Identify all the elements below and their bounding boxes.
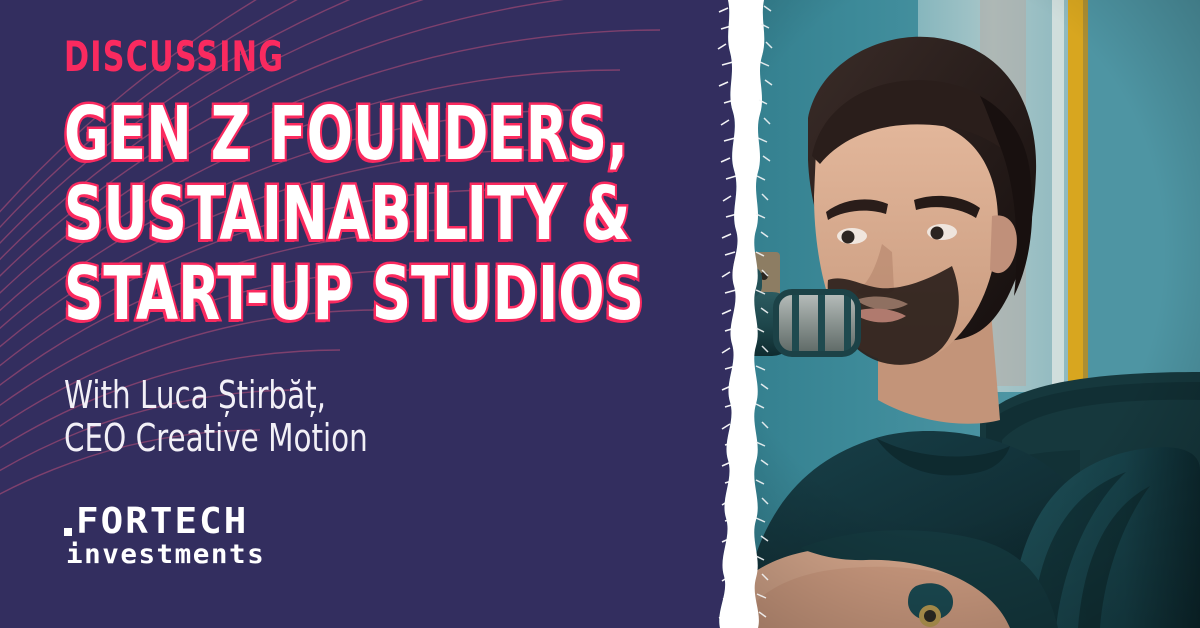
- logo-wordmark: FORTECH: [76, 505, 248, 539]
- headline-block: DISCUSSING GEN Z FOUNDERS, SUSTAINABILIT…: [64, 36, 704, 460]
- guest-name-line: With Luca Știrbăț,: [64, 374, 614, 417]
- logo-primary-row: FORTECH: [64, 505, 314, 539]
- episode-cover-poster: DISCUSSING GEN Z FOUNDERS, SUSTAINABILIT…: [0, 0, 1200, 628]
- headline-line-1: GEN Z FOUNDERS,: [64, 94, 589, 174]
- guest-role-line: CEO Creative Motion: [64, 417, 614, 460]
- guest-photo: [680, 0, 1200, 628]
- kicker-label: DISCUSSING: [64, 36, 576, 78]
- logo-subwordmark: investments: [66, 541, 319, 569]
- page-title: GEN Z FOUNDERS, SUSTAINABILITY & START-U…: [64, 94, 704, 334]
- headline-line-2: SUSTAINABILITY &: [64, 174, 589, 254]
- logo-dot-icon: [64, 528, 72, 536]
- left-text-panel: DISCUSSING GEN Z FOUNDERS, SUSTAINABILIT…: [0, 0, 760, 628]
- guest-photo-illustration: [680, 0, 1200, 628]
- guest-credit: With Luca Știrbăț, CEO Creative Motion: [64, 374, 614, 460]
- fortech-investments-logo: FORTECH investments: [64, 505, 314, 569]
- headline-line-3: START-UP STUDIOS: [64, 254, 589, 334]
